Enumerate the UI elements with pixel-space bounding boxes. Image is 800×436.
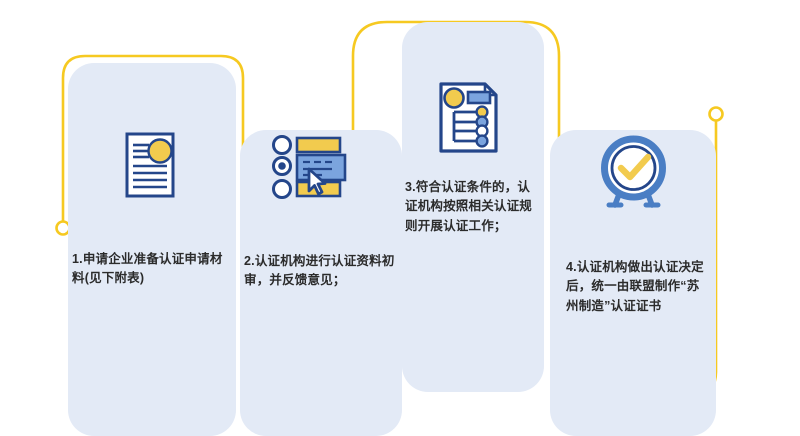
step-2-text: 2.认证机构进行认证资料初审，并反馈意见； [244, 252, 396, 291]
step-3-icon-container [432, 79, 506, 157]
step-4-icon-container [596, 133, 674, 213]
step-3-text: 3.符合认证条件的，认证机构按照相关认证规则开展认证工作； [405, 178, 537, 236]
checklist-document-icon [432, 79, 506, 157]
step-2-icon-container [270, 133, 348, 203]
infographic-canvas: 1.申请企业准备认证申请材料(见下附表) 2.认证机构进行认证资料初审，并反馈意… [0, 0, 800, 436]
step-1-icon-container [113, 128, 187, 204]
step-4-text: 4.认证机构做出认证决定后，统一由联盟制作“苏州制造”认证证书 [566, 258, 706, 316]
award-check-badge-icon [596, 133, 674, 213]
document-lines-icon [113, 128, 187, 204]
step-1-text: 1.申请企业准备认证申请材料(见下附表) [72, 250, 232, 289]
radio-list-cursor-icon [270, 133, 348, 203]
circle-endpoint-right [710, 108, 723, 121]
